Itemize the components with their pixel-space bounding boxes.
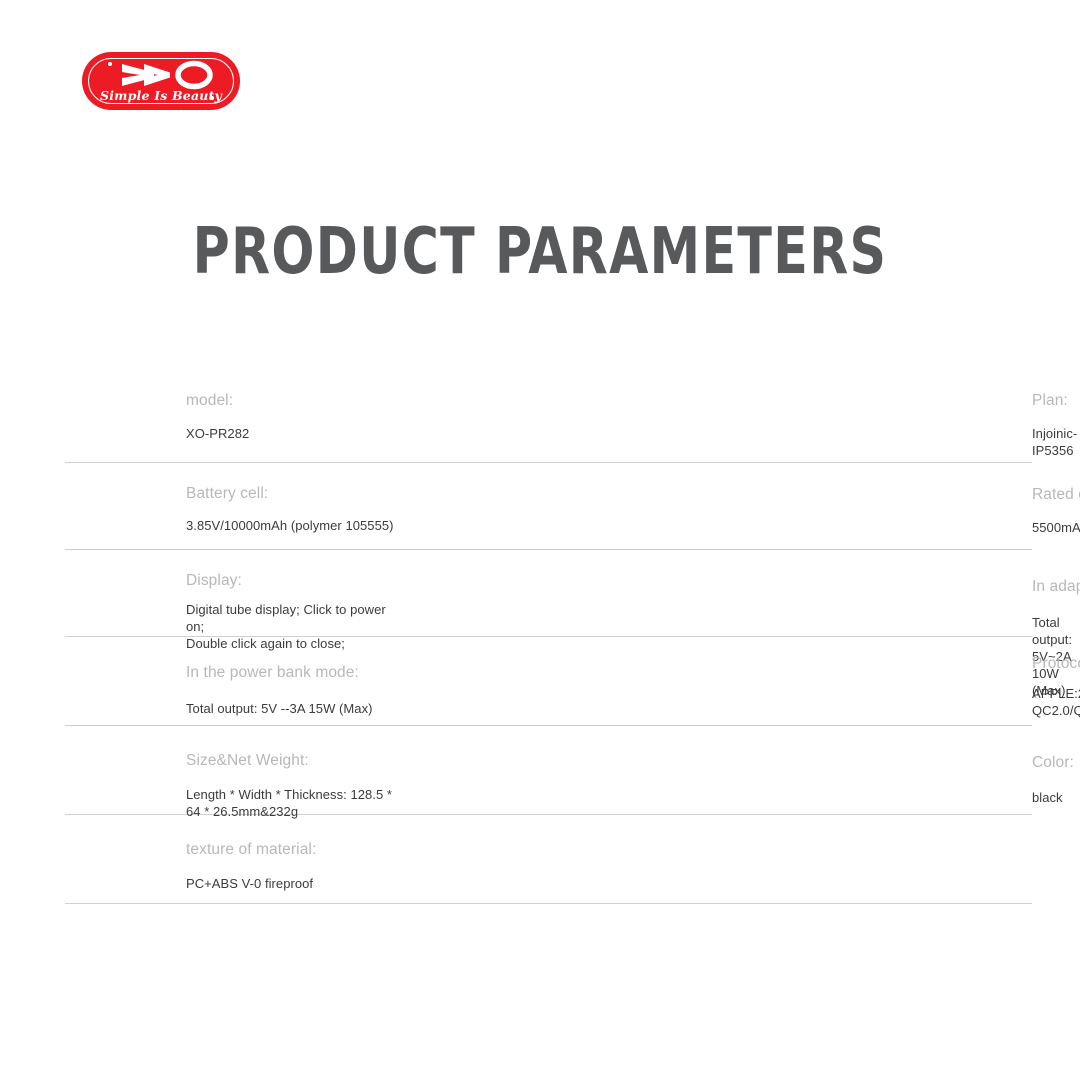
spec-cell-plan: Plan: Injoinic-IP5356: [399, 378, 1032, 462]
table-row: texture of material: PC+ABS V-0 fireproo…: [65, 815, 1032, 904]
xo-wordmark-icon: [82, 60, 240, 90]
spec-value: Total output: 5V --3A 15W (Max): [186, 682, 399, 717]
spec-label: model:: [186, 378, 399, 410]
spec-cell-rated-capacity: Rated capacity: 5500mAh: [399, 463, 1032, 549]
spec-cell-model: model: XO-PR282: [65, 378, 399, 462]
page-title: PRODUCT PARAMETERS: [65, 215, 1015, 289]
spec-label: In the power bank mode:: [186, 637, 399, 682]
table-row: Battery cell: 3.85V/10000mAh (polymer 10…: [65, 463, 1032, 550]
spec-cell-size-net-weight: Size&Net Weight: Length * Width * Thickn…: [65, 726, 399, 814]
spec-value: 3.85V/10000mAh (polymer 105555): [186, 503, 399, 534]
spec-label: texture of material:: [186, 815, 399, 859]
product-parameters-table: model: XO-PR282 Plan: Injoinic-IP5356 Ba…: [65, 378, 1032, 904]
logo-tagline: Simple Is Beauty: [82, 89, 240, 102]
spec-label: Size&Net Weight:: [186, 726, 399, 770]
spec-cell-in-adapter-mode: In adapter mode: Total output: 5V~2A 10W…: [399, 550, 1032, 636]
spec-cell-empty: [399, 815, 1032, 903]
table-row: Display: Digital tube display; Click to …: [65, 550, 1032, 637]
table-row: Size&Net Weight: Length * Width * Thickn…: [65, 726, 1032, 815]
spec-value: Length * Width * Thickness: 128.5 * 64 *…: [186, 770, 399, 820]
spec-value: PC+ABS V-0 fireproof: [186, 859, 399, 892]
spec-cell-color: Color: black: [399, 726, 1032, 814]
table-row: In the power bank mode: Total output: 5V…: [65, 637, 1032, 726]
table-row: model: XO-PR282 Plan: Injoinic-IP5356: [65, 378, 1032, 463]
spec-cell-texture-of-material: texture of material: PC+ABS V-0 fireproo…: [65, 815, 399, 903]
brand-logo: Simple Is Beauty: [82, 52, 240, 110]
spec-value: XO-PR282: [186, 410, 399, 442]
spec-cell-protocol-support: Protocol support: APPLE:2.4A/PD2.0/PD3.0…: [399, 637, 1032, 725]
spec-label: Display:: [186, 550, 399, 590]
spec-cell-power-bank-mode: In the power bank mode: Total output: 5V…: [65, 637, 399, 725]
spec-cell-display: Display: Digital tube display; Click to …: [65, 550, 399, 636]
spec-cell-battery-cell: Battery cell: 3.85V/10000mAh (polymer 10…: [65, 463, 399, 549]
spec-label: Battery cell:: [186, 463, 399, 503]
